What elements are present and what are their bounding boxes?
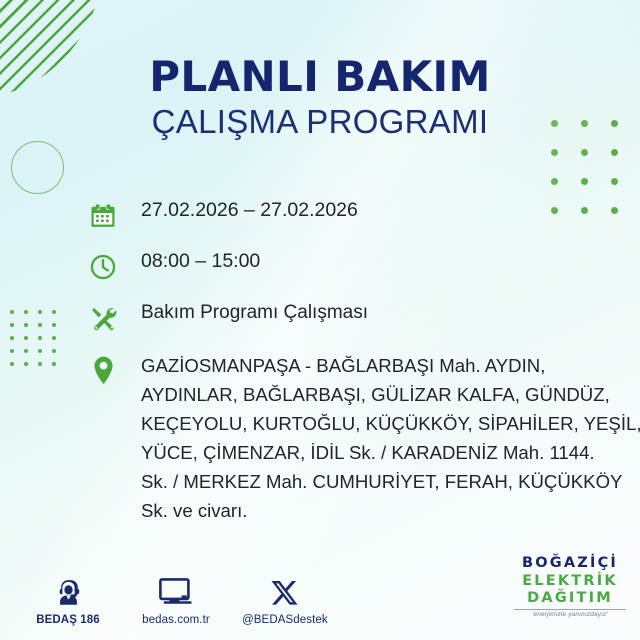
dot-grid-decoration-left xyxy=(10,310,66,375)
brand-line-1: BOĞAZİÇİ xyxy=(514,556,626,571)
location-line: YÜCE, ÇİMENZAR, İDİL Sk. / KARADENİZ Mah… xyxy=(141,438,640,467)
planned-maintenance-poster: PLANLI BAKIM ÇALIŞMA PROGRAMI xyxy=(0,0,640,640)
call-center-agent-icon xyxy=(26,570,110,608)
circle-outline-decoration xyxy=(11,141,64,194)
maintenance-details: 27.02.2026 – 27.02.2026 08:00 – 15:00 xyxy=(84,198,612,525)
bedas-logo: BOĞAZİÇİ ELEKTRİK DAĞITIM 'enerjimizle y… xyxy=(514,556,626,618)
brand-divider xyxy=(514,609,626,610)
brand-tagline: 'enerjimizle yanınızdayız' xyxy=(514,612,626,618)
detail-row-location: GAZİOSMANPAŞA - BAĞLARBAŞI Mah. AYDIN, A… xyxy=(84,351,612,525)
work-type-value: Bakım Programı Çalışması xyxy=(122,300,612,325)
contact-channels: BEDAŞ 186 bedas.com.tr xyxy=(26,570,326,626)
x-logo-icon xyxy=(242,570,326,608)
website-label: bedas.com.tr xyxy=(134,614,218,626)
detail-row-date: 27.02.2026 – 27.02.2026 xyxy=(84,198,612,233)
x-account-label: @BEDASdestek xyxy=(242,614,326,626)
time-range-value: 08:00 – 15:00 xyxy=(122,249,612,275)
map-pin-icon xyxy=(84,353,122,387)
location-text: GAZİOSMANPAŞA - BAĞLARBAŞI Mah. AYDIN, A… xyxy=(122,351,640,525)
location-line: Sk. ve civarı. xyxy=(141,496,640,525)
monitor-icon xyxy=(134,570,218,608)
contact-website[interactable]: bedas.com.tr xyxy=(134,570,218,626)
location-line: GAZİOSMANPAŞA - BAĞLARBAŞI Mah. AYDIN, xyxy=(141,351,640,380)
clock-icon xyxy=(84,250,122,284)
tools-icon xyxy=(84,301,122,335)
location-line: AYDINLAR, BAĞLARBAŞI, GÜLİZAR KALFA, GÜN… xyxy=(141,380,640,409)
contact-x-account[interactable]: @BEDASdestek xyxy=(242,570,326,626)
brand-line-2: ELEKTRİK xyxy=(514,574,626,589)
location-line: Sk. / MERKEZ Mah. CUMHURİYET, FERAH, KÜÇ… xyxy=(141,467,640,496)
call-center-label: BEDAŞ 186 xyxy=(26,614,110,626)
poster-footer: BEDAŞ 186 bedas.com.tr xyxy=(0,554,640,640)
poster-header: PLANLI BAKIM ÇALIŞMA PROGRAMI xyxy=(0,56,640,142)
detail-row-time: 08:00 – 15:00 xyxy=(84,249,612,284)
contact-call-center[interactable]: BEDAŞ 186 xyxy=(26,570,110,626)
date-range-value: 27.02.2026 – 27.02.2026 xyxy=(122,198,612,224)
brand-line-3: DAĞITIM xyxy=(514,591,626,606)
location-line: KEÇEYOLU, KURTOĞLU, KÜÇÜKKÖY, SİPAHİLER,… xyxy=(141,409,640,438)
page-title: PLANLI BAKIM xyxy=(0,56,640,99)
page-subtitle: ÇALIŞMA PROGRAMI xyxy=(0,103,640,142)
detail-row-work-type: Bakım Programı Çalışması xyxy=(84,300,612,335)
calendar-icon xyxy=(84,199,122,233)
